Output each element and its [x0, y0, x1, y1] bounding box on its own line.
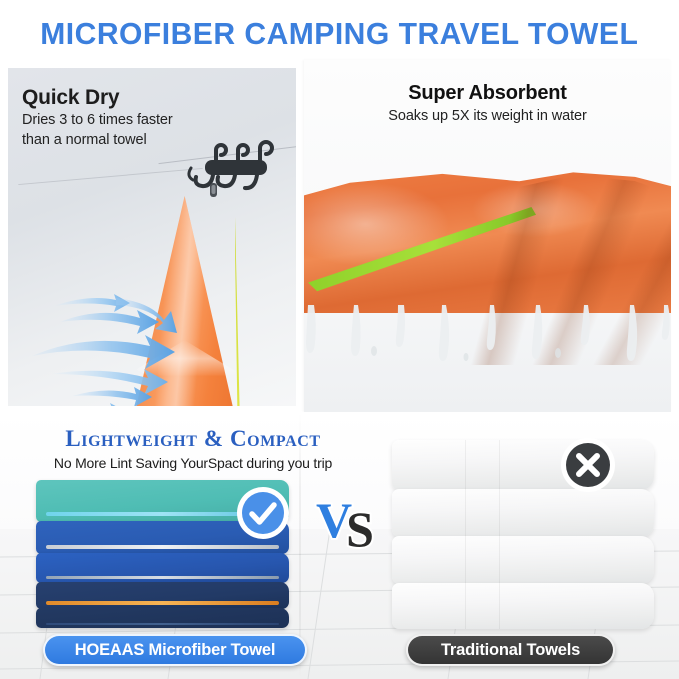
super-absorbent-panel: Super Absorbent Soaks up 5X its weight i…: [304, 60, 671, 412]
wall-hook-rack-icon: [183, 138, 296, 198]
airflow-arrows-icon: [16, 278, 201, 406]
versus-label: VS: [316, 495, 380, 545]
super-absorbent-text-block: Super Absorbent Soaks up 5X its weight i…: [304, 82, 671, 124]
quick-dry-heading: Quick Dry: [22, 86, 173, 110]
traditional-towel-label-pill: Traditional Towels: [406, 634, 615, 666]
carabiner-icon: [210, 183, 217, 197]
comparison-subtitle: No More Lint Saving YourSpact during you…: [18, 455, 368, 471]
super-absorbent-subtitle: Soaks up 5X its weight in water: [304, 108, 671, 124]
check-circle-icon: [236, 486, 290, 540]
water-drips-icon: [304, 305, 671, 367]
comparison-text-block: Lightweight & Compact No More Lint Savin…: [18, 426, 368, 471]
white-towel-3: [392, 536, 654, 584]
quick-dry-panel: Quick Dry Dries 3 to 6 times faster than…: [8, 68, 296, 406]
white-towel-2: [392, 489, 654, 537]
folded-towel-navy-orange-trim: [36, 582, 289, 609]
quick-dry-subtitle-line2: than a normal towel: [22, 132, 173, 150]
versus-s: S: [346, 501, 374, 557]
hoeaas-towel-label-pill: HOEAAS Microfiber Towel: [43, 634, 307, 666]
wall-line-lower: [18, 168, 202, 185]
white-towel-4: [392, 583, 654, 629]
page-title: MICROFIBER CAMPING TRAVEL TOWEL: [40, 16, 638, 52]
x-circle-icon: [560, 437, 616, 493]
folded-towel-blue: [36, 553, 289, 583]
super-absorbent-heading: Super Absorbent: [304, 82, 671, 105]
quick-dry-text-block: Quick Dry Dries 3 to 6 times faster than…: [22, 86, 173, 149]
comparison-heading: Lightweight & Compact: [18, 426, 368, 452]
header-bar: MICROFIBER CAMPING TRAVEL TOWEL: [0, 0, 679, 68]
folded-towel-dark-navy: [36, 608, 289, 628]
quick-dry-subtitle-line1: Dries 3 to 6 times faster: [22, 112, 173, 130]
wet-orange-towel: [304, 165, 671, 365]
